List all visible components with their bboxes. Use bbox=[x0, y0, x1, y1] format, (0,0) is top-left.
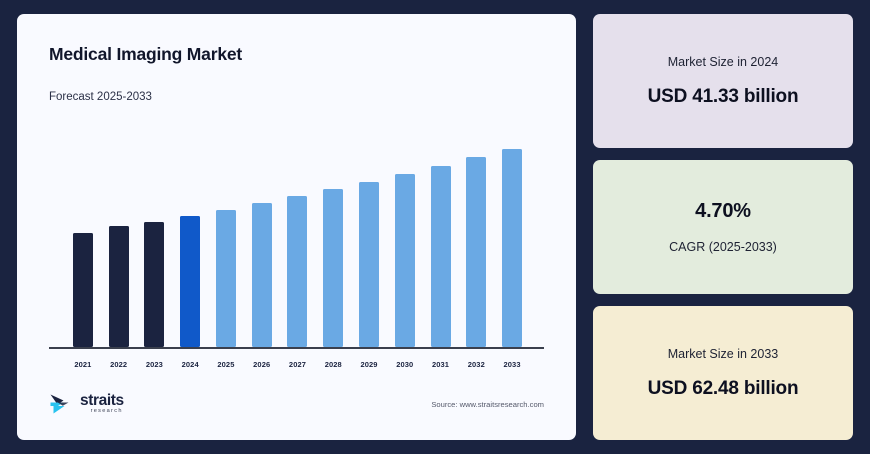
bar-column-2025 bbox=[208, 131, 244, 347]
stat-card-column: Market Size in 2024USD 41.33 billion4.70… bbox=[593, 14, 853, 440]
bar-column-2026 bbox=[244, 131, 280, 347]
stat-card-label: CAGR (2025-2033) bbox=[669, 240, 777, 254]
x-tick-2021: 2021 bbox=[65, 360, 101, 369]
page-title: Medical Imaging Market bbox=[49, 44, 556, 65]
bar-2028 bbox=[323, 189, 343, 347]
chart-panel: Medical Imaging Market Forecast 2025-203… bbox=[17, 14, 576, 440]
bar-column-2031 bbox=[423, 131, 459, 347]
stat-card-value: USD 62.48 billion bbox=[648, 378, 799, 400]
infographic-root: Medical Imaging Market Forecast 2025-203… bbox=[0, 0, 870, 454]
bar-2022 bbox=[109, 226, 129, 347]
stat-card-value: 4.70% bbox=[695, 200, 751, 223]
bar-2033 bbox=[502, 149, 522, 347]
x-tick-2030: 2030 bbox=[387, 360, 423, 369]
bar-series bbox=[49, 131, 544, 347]
source-attribution: Source: www.straitsresearch.com bbox=[431, 400, 544, 409]
bar-column-2030 bbox=[387, 131, 423, 347]
bar-column-2027 bbox=[280, 131, 316, 347]
bar-2031 bbox=[431, 166, 451, 347]
bar-2029 bbox=[359, 182, 379, 347]
x-tick-2027: 2027 bbox=[280, 360, 316, 369]
bar-column-2029 bbox=[351, 131, 387, 347]
x-tick-2024: 2024 bbox=[172, 360, 208, 369]
logo-text: straits research bbox=[80, 393, 124, 415]
bar-column-2023 bbox=[137, 131, 173, 347]
x-tick-2032: 2032 bbox=[458, 360, 494, 369]
bar-2032 bbox=[466, 157, 486, 347]
x-tick-2023: 2023 bbox=[137, 360, 173, 369]
bar-2023 bbox=[144, 222, 164, 347]
stat-card-market-size-2024: Market Size in 2024USD 41.33 billion bbox=[593, 14, 853, 148]
stat-card-cagr: 4.70%CAGR (2025-2033) bbox=[593, 160, 853, 294]
logo-name: straits bbox=[80, 393, 124, 409]
bar-2030 bbox=[395, 174, 415, 347]
straits-arrow-icon bbox=[49, 393, 75, 415]
chart-subtitle: Forecast 2025-2033 bbox=[49, 91, 556, 103]
x-tick-2028: 2028 bbox=[315, 360, 351, 369]
straits-research-logo: straits research bbox=[49, 393, 124, 415]
stat-card-label: Market Size in 2024 bbox=[668, 55, 778, 69]
bar-column-2024 bbox=[172, 131, 208, 347]
bar-column-2022 bbox=[101, 131, 137, 347]
bar-2026 bbox=[252, 203, 272, 347]
x-tick-2031: 2031 bbox=[423, 360, 459, 369]
bar-2025 bbox=[216, 210, 236, 347]
bar-column-2032 bbox=[458, 131, 494, 347]
bar-column-2028 bbox=[315, 131, 351, 347]
logo-tagline: research bbox=[91, 409, 123, 415]
bar-2021 bbox=[73, 233, 93, 347]
x-tick-2029: 2029 bbox=[351, 360, 387, 369]
plot-area: 2021202220232024202520262027202820292030… bbox=[49, 103, 544, 382]
x-tick-2026: 2026 bbox=[244, 360, 280, 369]
bar-column-2033 bbox=[494, 131, 530, 347]
x-tick-2025: 2025 bbox=[208, 360, 244, 369]
chart-footer: straits research Source: www.straitsrese… bbox=[49, 382, 544, 426]
bar-column-2021 bbox=[65, 131, 101, 347]
stat-card-value: USD 41.33 billion bbox=[648, 86, 799, 108]
stat-card-market-size-2033: Market Size in 2033USD 62.48 billion bbox=[593, 306, 853, 440]
x-tick-2022: 2022 bbox=[101, 360, 137, 369]
stat-card-label: Market Size in 2033 bbox=[668, 347, 778, 361]
bar-2024 bbox=[180, 216, 200, 347]
bar-2027 bbox=[287, 196, 307, 347]
x-tick-2033: 2033 bbox=[494, 360, 530, 369]
x-axis-tick-labels: 2021202220232024202520262027202820292030… bbox=[49, 360, 544, 369]
x-axis-line bbox=[49, 347, 544, 349]
